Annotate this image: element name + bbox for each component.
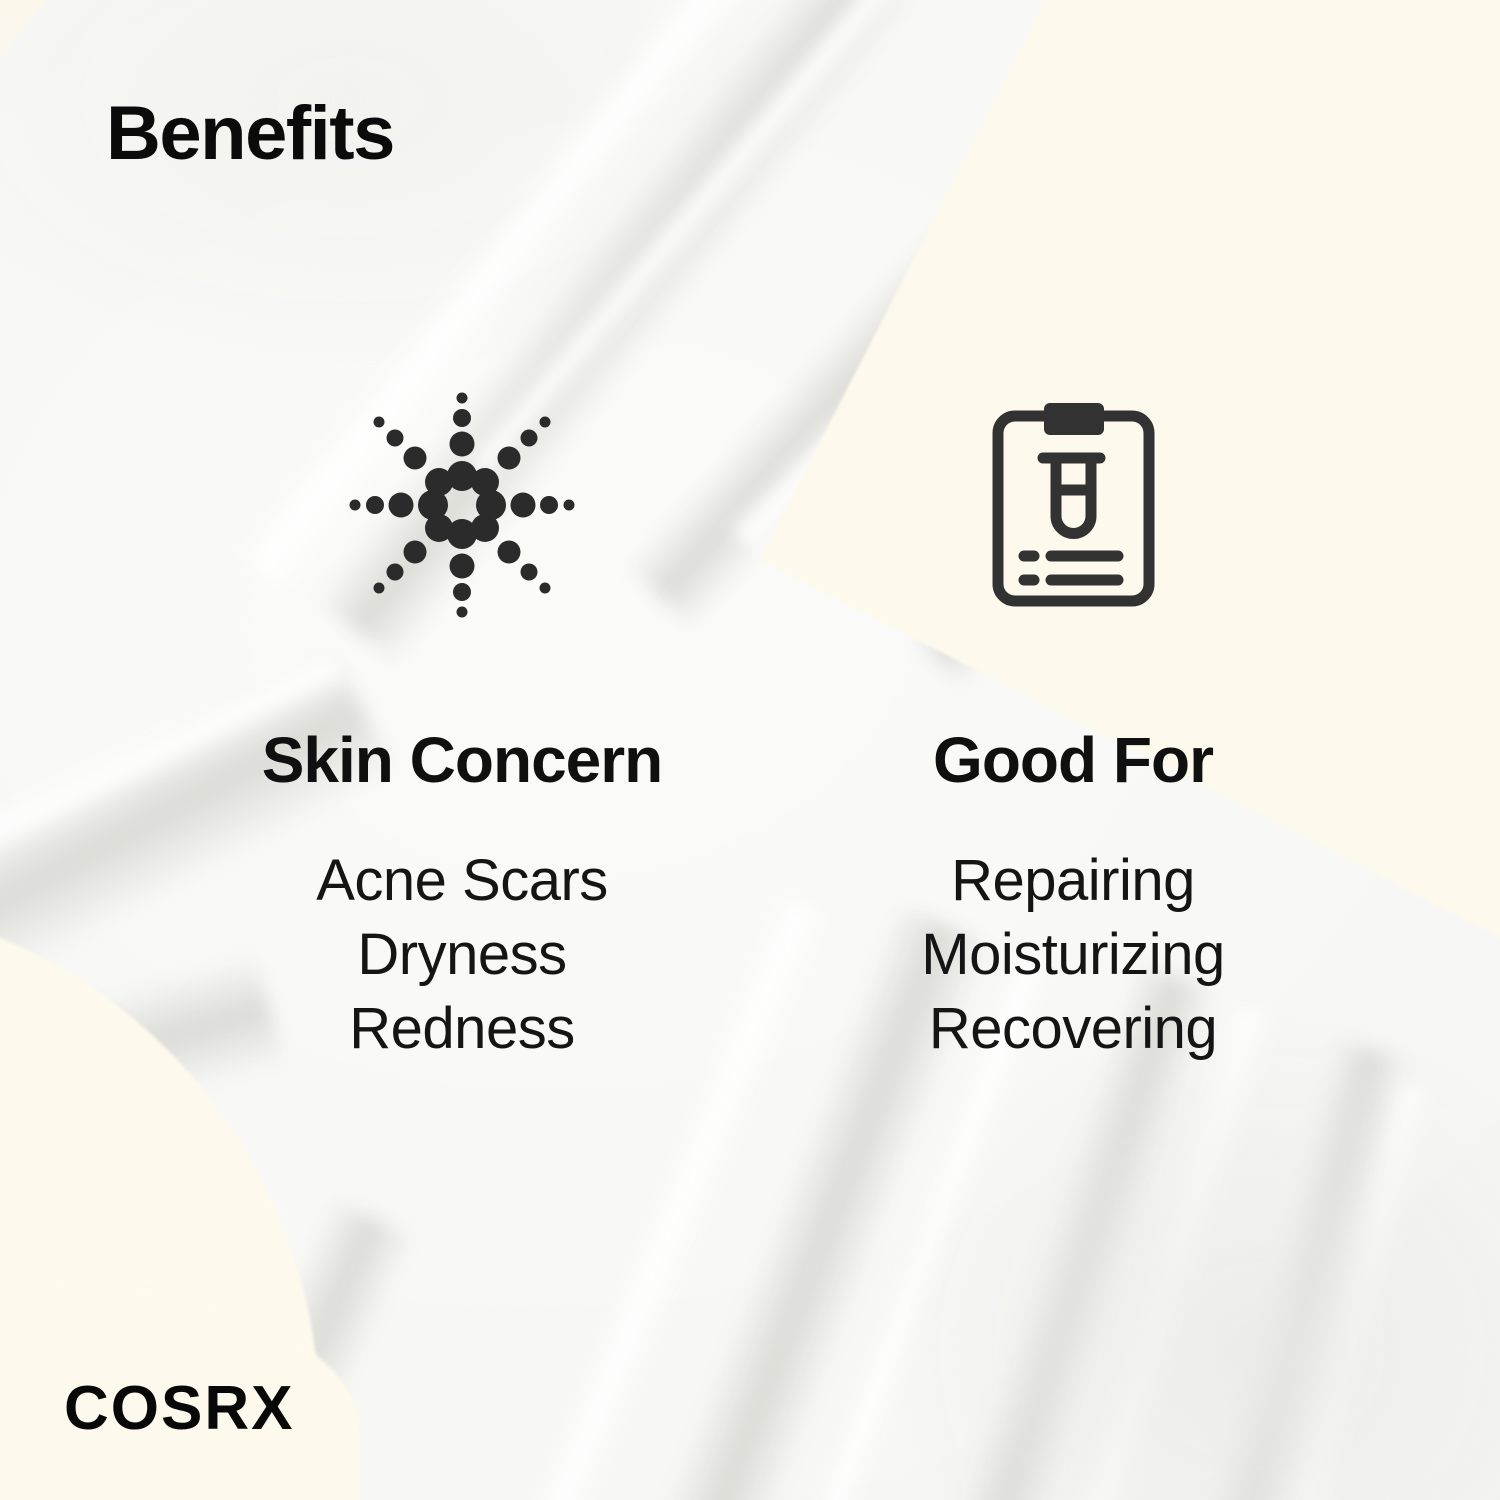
benefit-list: Repairing Moisturizing Recovering (863, 844, 1283, 1067)
benefit-list: Acne Scars Dryness Redness (252, 844, 672, 1067)
column-heading: Skin Concern (252, 728, 672, 792)
benefit-column-good-for: Good For Repairing Moisturizing Recoveri… (863, 380, 1283, 1067)
list-item: Dryness (252, 918, 672, 992)
benefits-infographic: Benefits (0, 0, 1500, 1500)
list-item: Redness (252, 992, 672, 1066)
list-item: Acne Scars (252, 844, 672, 918)
benefit-column-skin-concern: Skin Concern Acne Scars Dryness Redness (252, 380, 672, 1067)
sparkle-burst-icon (252, 380, 672, 630)
clipboard-test-tube-icon (863, 380, 1283, 630)
list-item: Repairing (863, 844, 1283, 918)
list-item: Recovering (863, 992, 1283, 1066)
page-title: Benefits (106, 96, 394, 172)
list-item: Moisturizing (863, 918, 1283, 992)
brand-logo: COSRX (64, 1378, 294, 1440)
column-heading: Good For (863, 728, 1283, 792)
